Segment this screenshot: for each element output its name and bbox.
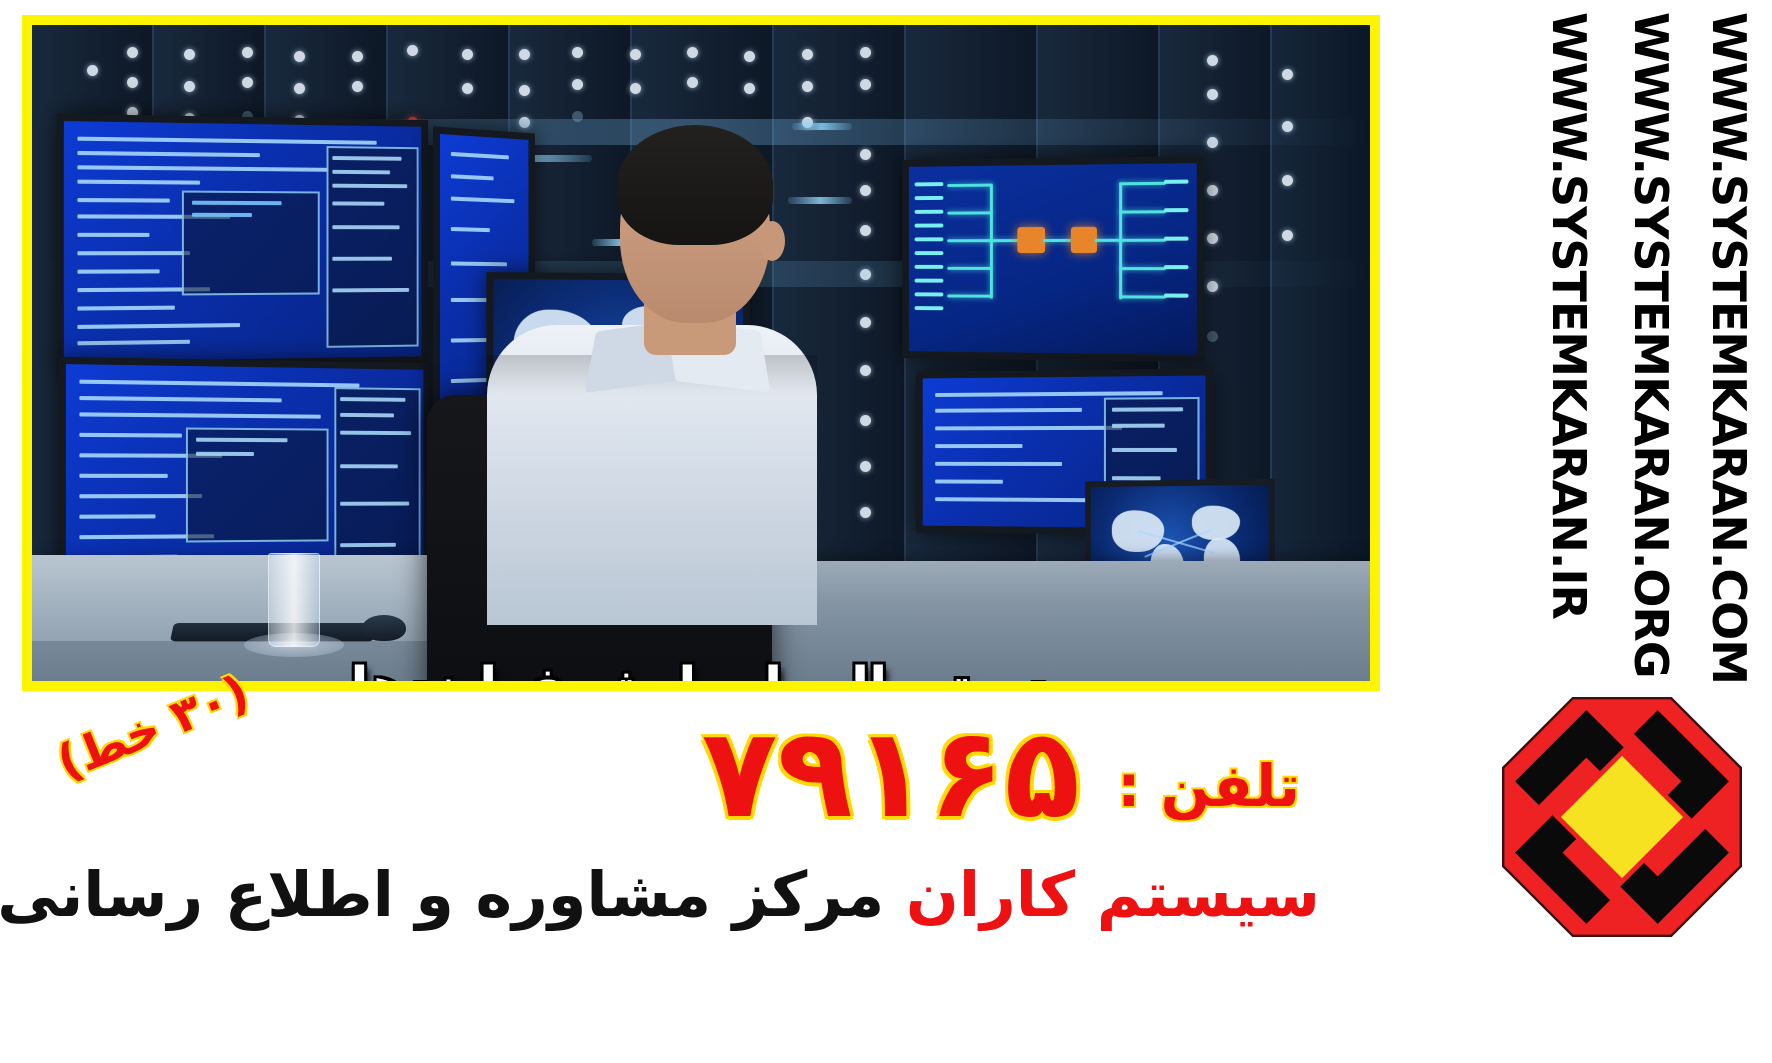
monitor-circuit-diagram xyxy=(902,156,1204,362)
photo-frame: دستورالعمل پایش فرایندها xyxy=(22,15,1380,691)
contact-row: تلفن : ۷۹۱۶۵ (۳۰ خط) xyxy=(0,700,1330,850)
phone-label: تلفن : xyxy=(1117,752,1300,820)
website-com[interactable]: WWW.SYSTEMKARAN.COM xyxy=(1702,12,1756,684)
website-org[interactable]: WWW.SYSTEMKARAN.ORG xyxy=(1624,12,1678,678)
photo-image: دستورالعمل پایش فرایندها xyxy=(32,25,1370,681)
water-glass xyxy=(268,553,320,647)
website-ir[interactable]: WWW.SYSTEMKARAN.IR xyxy=(1542,12,1596,619)
poster-root: دستورالعمل پایش فرایندها WWW.SYSTEMKARAN… xyxy=(0,0,1772,1063)
organization-line: سیستم کاران مرکز مشاوره و اطلاع رسانی xyxy=(0,858,1320,931)
monitor-code-top-left xyxy=(57,114,428,369)
organization-prefix: مرکز مشاوره و اطلاع رسانی xyxy=(0,858,884,931)
person-hair xyxy=(617,125,773,245)
photo-title-overlay: دستورالعمل پایش فرایندها xyxy=(412,661,1052,681)
systemkaran-logo[interactable] xyxy=(1502,697,1742,937)
organization-name: سیستم کاران xyxy=(906,858,1320,931)
phone-number[interactable]: ۷۹۱۶۵ xyxy=(702,706,1080,842)
mouse xyxy=(362,615,406,641)
website-list: WWW.SYSTEMKARAN.COM WWW.SYSTEMKARAN.ORG … xyxy=(1388,12,1772,690)
